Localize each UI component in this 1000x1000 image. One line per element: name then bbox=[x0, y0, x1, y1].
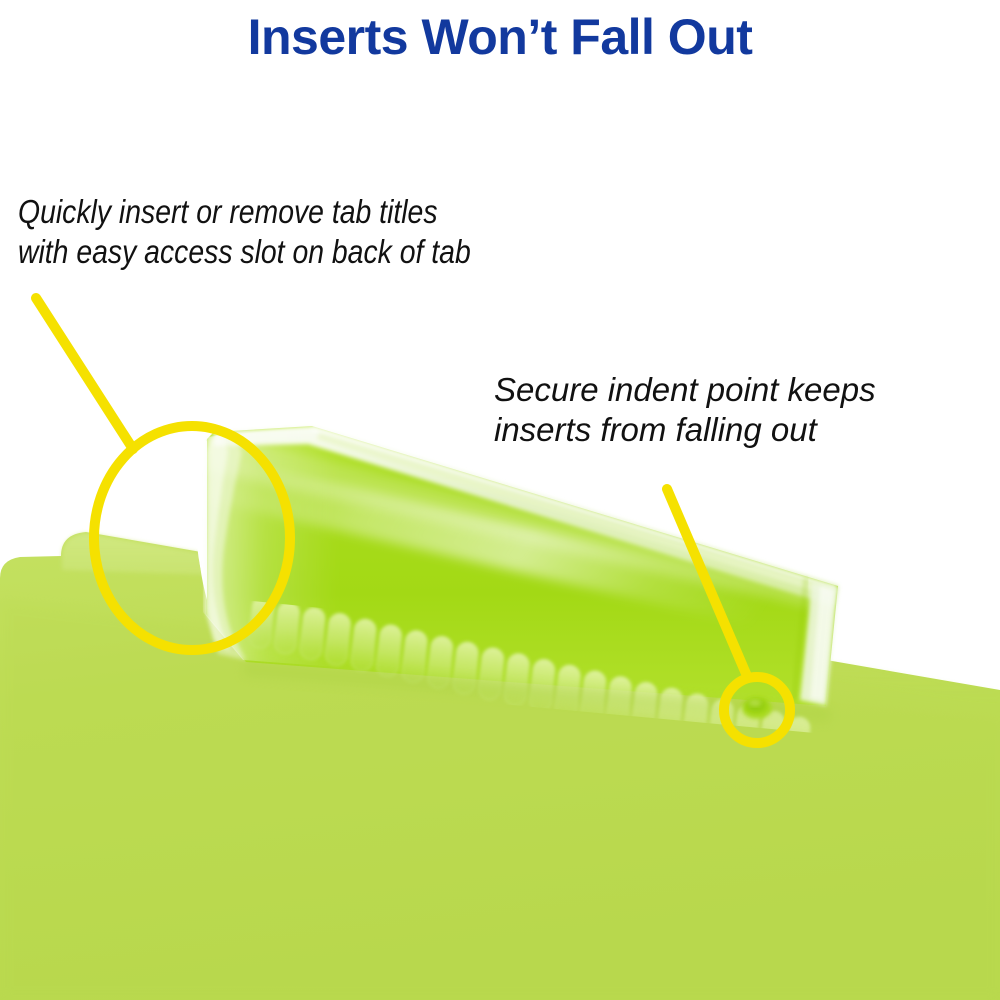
infographic-canvas: Inserts Won’t Fall Out Quickly insert or… bbox=[0, 0, 1000, 1000]
indent-point bbox=[742, 697, 772, 719]
callout-right-line-2: inserts from falling out bbox=[494, 410, 876, 450]
callout-label-insert-remove-tab-titles: Quickly insert or remove tab titles with… bbox=[18, 192, 471, 273]
page-title: Inserts Won’t Fall Out bbox=[0, 8, 1000, 66]
product-illustration bbox=[0, 0, 1000, 1000]
callout-left-line-1: Quickly insert or remove tab titles bbox=[18, 192, 471, 232]
callout-label-secure-indent-point: Secure indent point keeps inserts from f… bbox=[494, 370, 876, 451]
callout-right-line-1: Secure indent point keeps bbox=[494, 370, 876, 410]
callout-left-line-2: with easy access slot on back of tab bbox=[18, 232, 471, 272]
